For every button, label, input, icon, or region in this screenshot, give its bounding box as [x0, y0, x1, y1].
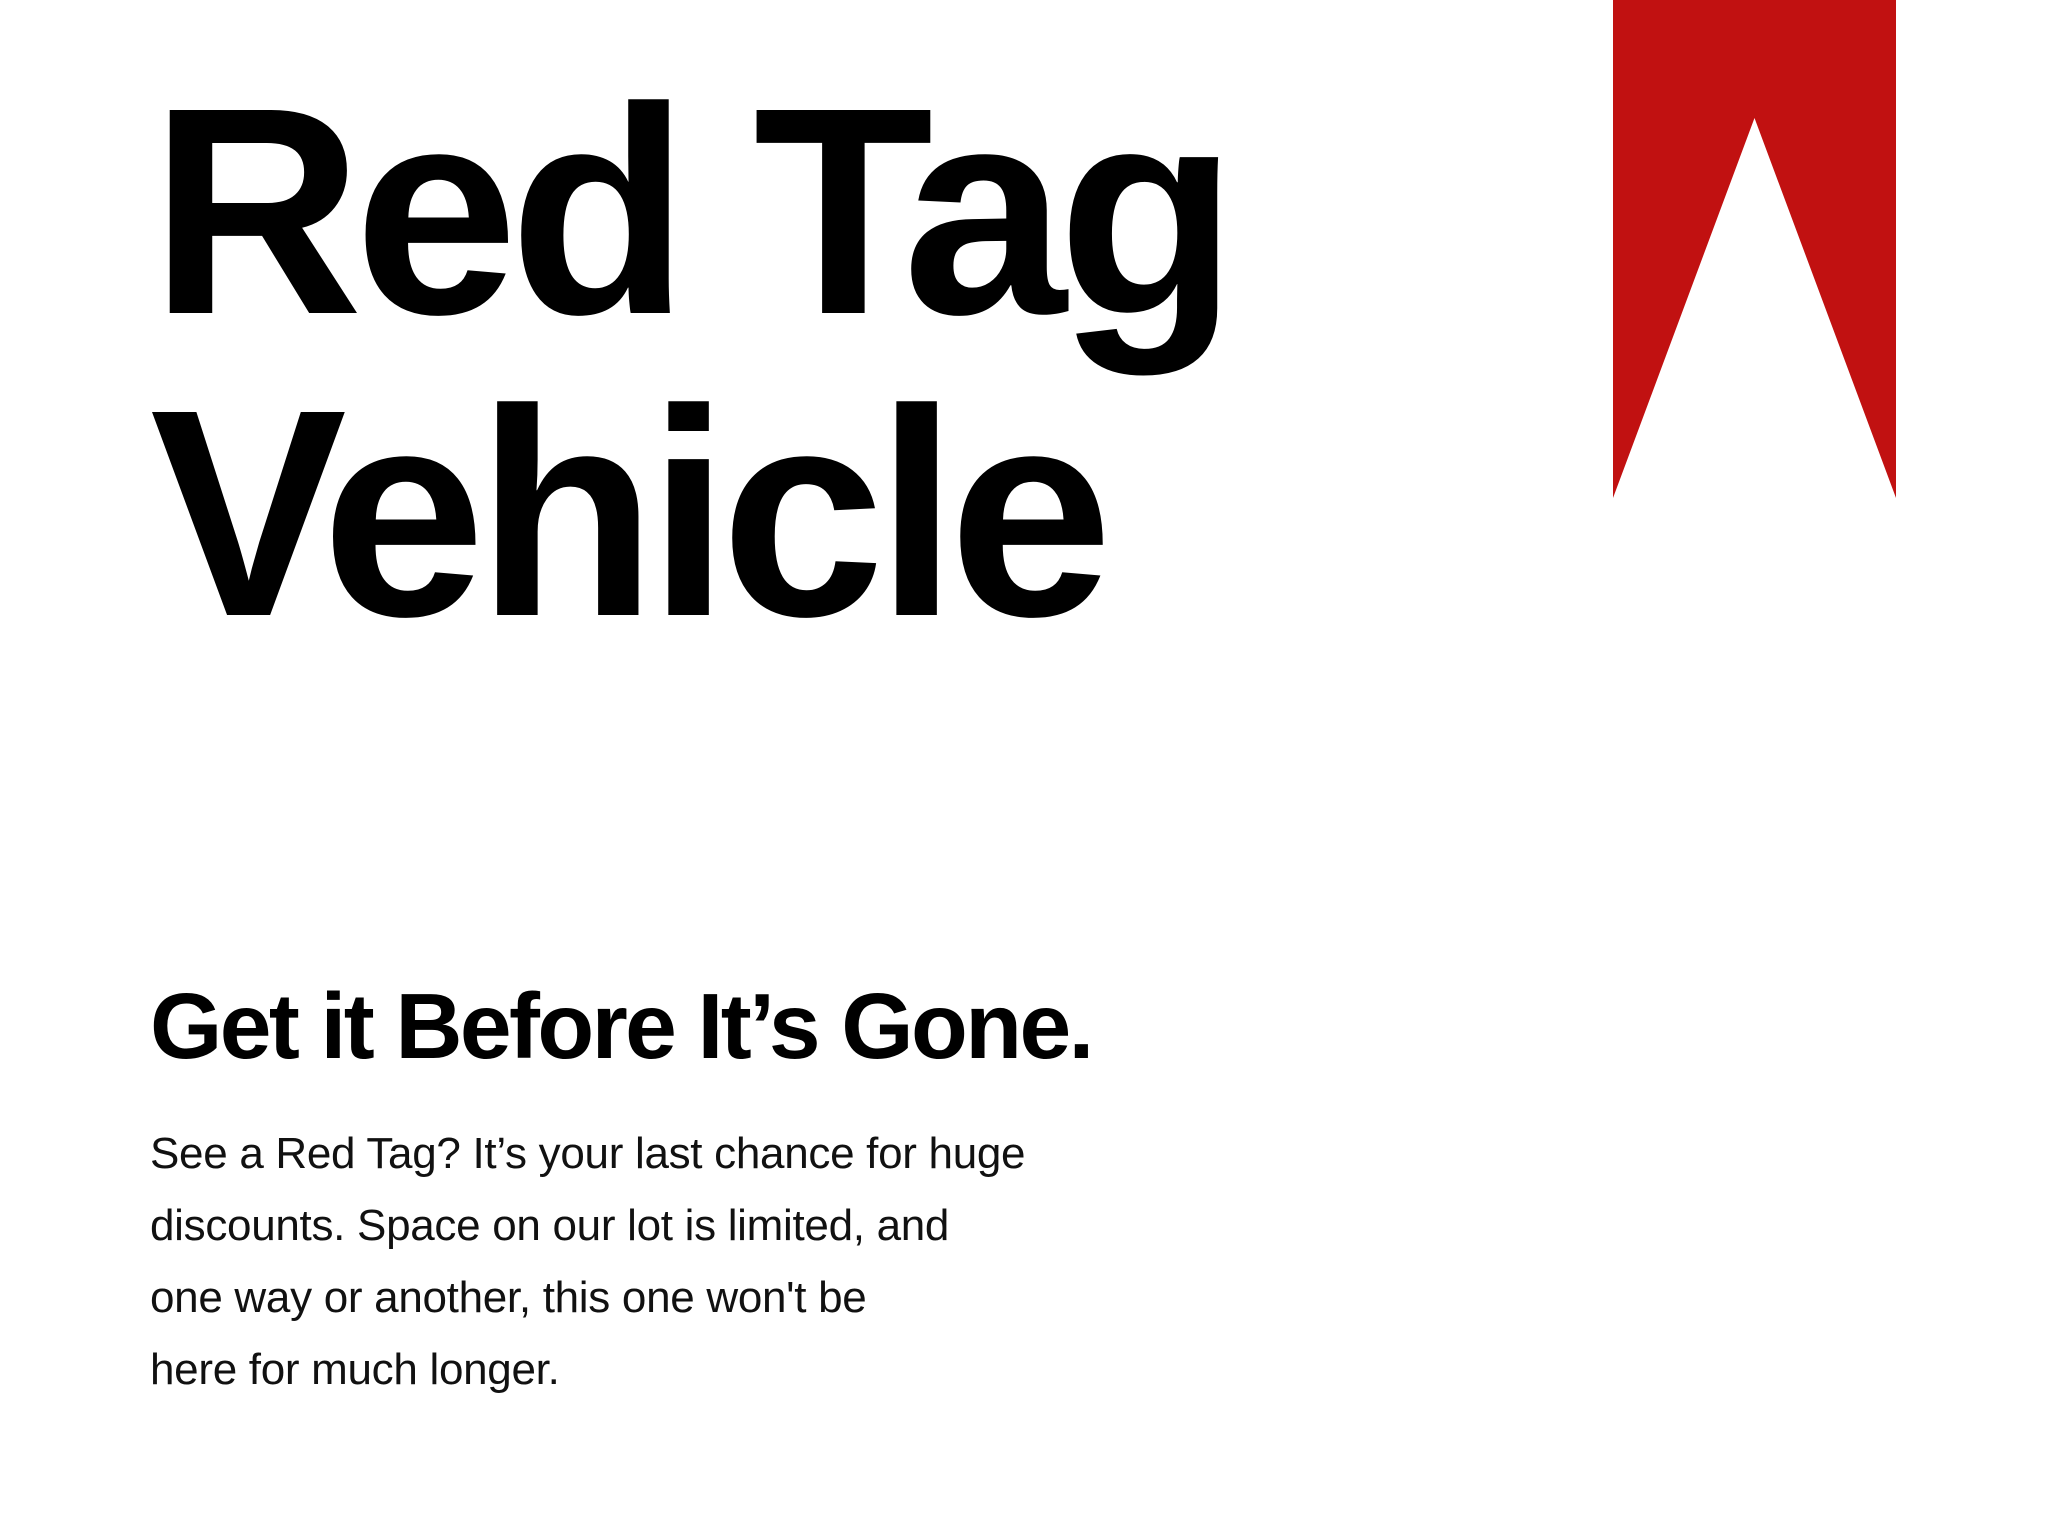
- headline-line-1: Red Tag: [150, 60, 1550, 362]
- body-line-2: discounts. Space on our lot is limited, …: [150, 1190, 1400, 1262]
- subheading: Get it Before It’s Gone.: [150, 978, 1092, 1074]
- body-line-4: here for much longer.: [150, 1334, 1400, 1406]
- headline-line-2: Vehicle: [150, 362, 1550, 664]
- red-tag-ribbon-icon: [1613, 0, 1896, 498]
- body-line-1: See a Red Tag? It’s your last chance for…: [150, 1118, 1400, 1190]
- body-paragraph: See a Red Tag? It’s your last chance for…: [150, 1118, 1400, 1406]
- page-title: Red Tag Vehicle: [150, 60, 1550, 664]
- body-line-3: one way or another, this one won't be: [150, 1262, 1400, 1334]
- red-tag-vehicle-poster: Red Tag Vehicle Get it Before It’s Gone.…: [0, 0, 2048, 1536]
